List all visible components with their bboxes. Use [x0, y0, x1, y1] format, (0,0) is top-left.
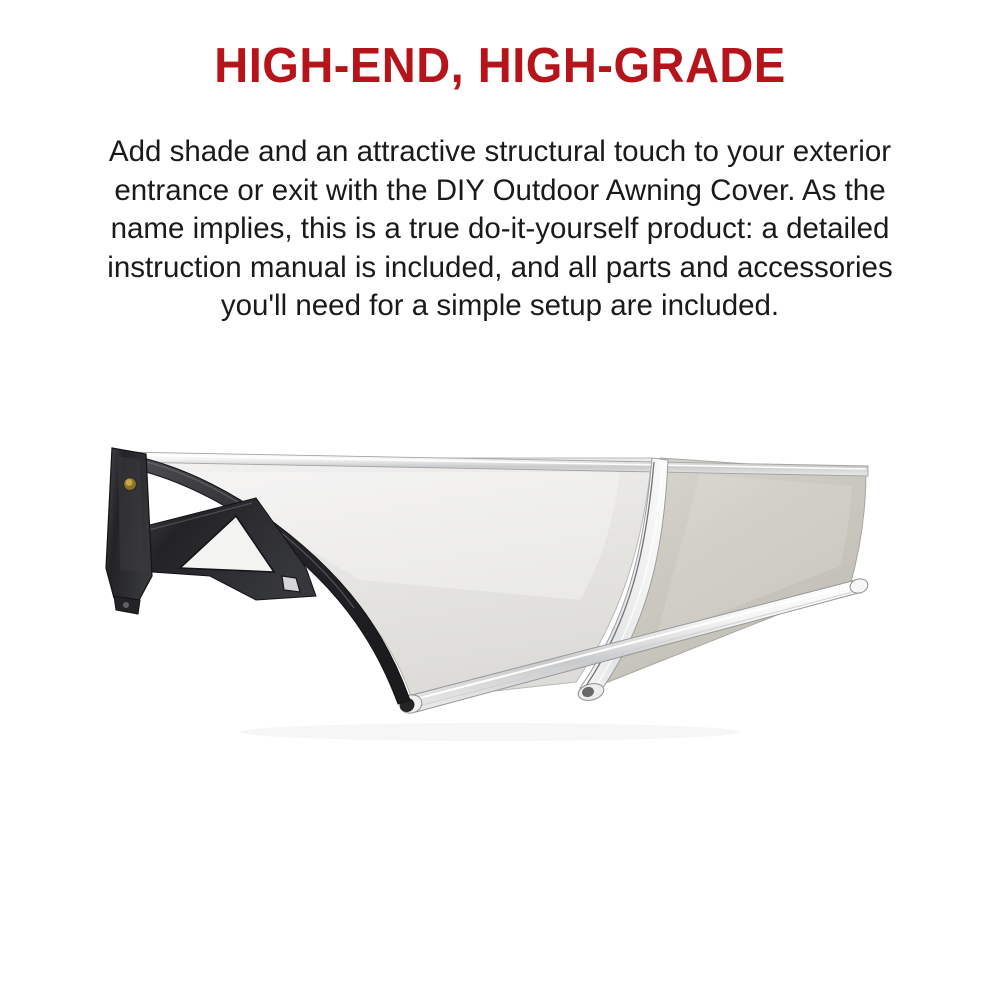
product-description: Add shade and an attractive structural t… [78, 133, 922, 326]
product-shadow [240, 723, 740, 741]
description-line: you'll need for a simple setup are inclu… [78, 287, 922, 326]
description-line: instruction manual is included, and all … [78, 249, 922, 288]
product-image [60, 400, 940, 780]
awning-illustration [60, 400, 940, 780]
description-line: name implies, this is a true do-it-yours… [78, 210, 922, 249]
description-line: Add shade and an attractive structural t… [78, 133, 922, 172]
description-line: entrance or exit with the DIY Outdoor Aw… [78, 172, 922, 211]
marketing-banner: HIGH-END, HIGH-GRADE Add shade and an at… [0, 0, 1000, 1000]
wall-bracket [106, 448, 152, 614]
page-title: HIGH-END, HIGH-GRADE [20, 38, 980, 94]
